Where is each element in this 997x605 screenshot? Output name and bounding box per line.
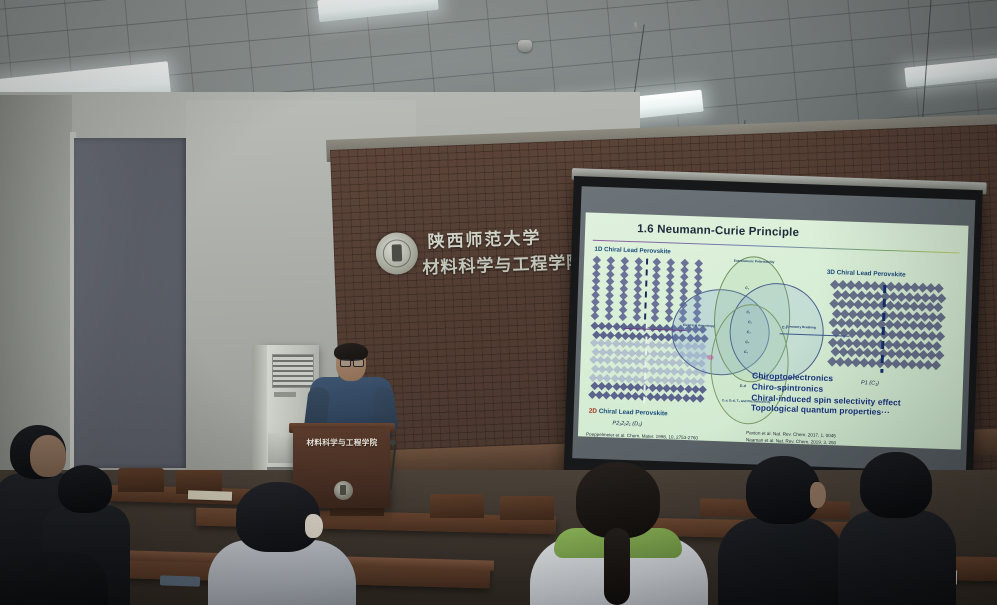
venn-highlight-marker xyxy=(707,355,714,360)
window-curtain xyxy=(74,138,187,468)
audience-body xyxy=(0,552,108,605)
venn-pointgroup-center-4: C₄ xyxy=(745,340,749,344)
label-1d-perovskite: 1D Chiral Lead Perovskite xyxy=(594,246,671,256)
phone-on-desk[interactable] xyxy=(160,575,200,586)
citation-left-1: Poeppelmeier et al. Chem. Mater. 1998, 1… xyxy=(586,432,698,443)
label-2d-rest: Chiral Lead Perovskite xyxy=(597,408,668,417)
ac-duct-column xyxy=(252,345,267,475)
sprinkler-icon-3 xyxy=(632,22,639,31)
audience-hair xyxy=(58,465,112,513)
presentation-slide: 1.6 Neumann-Curie Principle 1D Chiral Le… xyxy=(578,212,969,449)
audience-hair xyxy=(576,462,660,538)
venn-pointgroup-top: C₃ xyxy=(745,286,749,290)
label-2d-perovskite: 2D Chiral Lead Perovskite xyxy=(589,408,668,418)
slide-bullet-list: Chiroptoelectronics Chiro-spintronics Ch… xyxy=(751,370,902,418)
venn-pointgroup-center-3: C₃ xyxy=(747,330,751,334)
formula-2d: P2₁2₁2₁ (D₂) xyxy=(612,420,642,427)
audience-green-scarf-student xyxy=(530,462,710,605)
venn-pointgroup-right: C₂ᵥ xyxy=(782,325,788,329)
audience-right-dark-b xyxy=(838,452,958,605)
citations-right: Paxton et al. Nat. Rev. Chem. 2017, 1, 0… xyxy=(746,430,874,449)
smoke-detector-icon xyxy=(518,40,532,52)
glasses-icon xyxy=(340,359,364,365)
audience-far-left-edge xyxy=(0,552,110,605)
audience-body xyxy=(718,518,844,605)
audience-body xyxy=(838,510,956,605)
audience-ear-mask xyxy=(305,514,323,538)
chair-back-4 xyxy=(430,494,484,518)
audience-face-sliver xyxy=(810,482,826,508)
venn-pointgroup-center: C₁ xyxy=(746,310,750,314)
audience-gray-jacket-student xyxy=(208,482,358,605)
venn-pointgroup-bottom: D₂d xyxy=(740,384,746,388)
audience-right-dark-a xyxy=(718,456,846,605)
slide-title: 1.6 Neumann-Curie Principle xyxy=(637,223,799,239)
college-name: 材料科学与工程学院 xyxy=(422,248,585,279)
audience-ponytail xyxy=(604,528,630,605)
podium-label: 材料科学与工程学院 xyxy=(302,437,382,448)
label-3d-perovskite: 3D Chiral Lead Perovskite xyxy=(827,269,906,279)
venn-pointgroup-center-2: C₂ xyxy=(748,320,752,324)
microphone-icon[interactable] xyxy=(389,440,396,445)
audience-hair xyxy=(746,456,820,524)
university-logo-icon xyxy=(375,232,418,275)
university-wall-sign: 陕西师范大学 材料科学与工程学院 xyxy=(371,219,563,292)
university-name: 陕西师范大学 xyxy=(427,223,542,252)
citation-left-2: B. Kong, et al. Chem. Soc. Rev. 2016, 45… xyxy=(586,438,698,449)
citations-left: Poeppelmeier et al. Chem. Mater. 1998, 1… xyxy=(586,432,699,450)
projection-screen: 1.6 Neumann-Curie Principle 1D Chiral Le… xyxy=(564,176,983,484)
lattice-3d-diagram xyxy=(828,281,943,377)
audience-hair xyxy=(860,452,932,518)
venn-pointgroup-center-5: C₆ xyxy=(744,350,748,354)
lecture-hall-photo: 陕西师范大学 材料科学与工程学院 1.6 Neumann-Curie Princ… xyxy=(0,0,997,605)
screen-surface: 1.6 Neumann-Curie Principle 1D Chiral Le… xyxy=(572,186,975,472)
ac-control-panel[interactable] xyxy=(274,392,296,397)
presenter xyxy=(308,345,394,435)
